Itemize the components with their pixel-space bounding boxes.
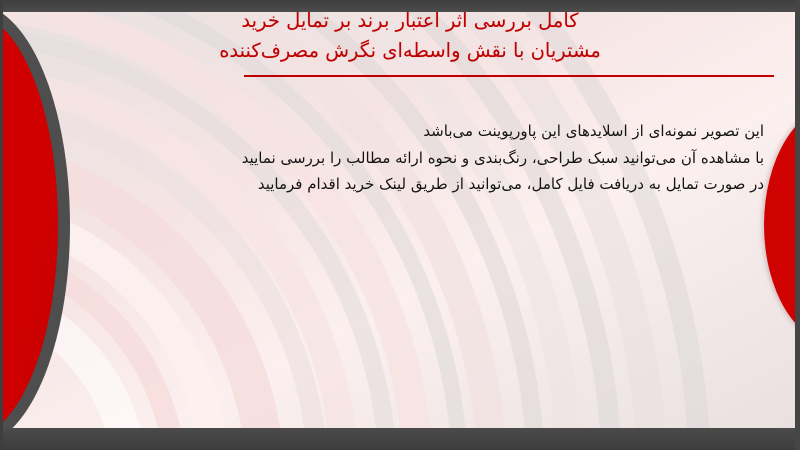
title-line-1: کامل بررسی اثر اعتبار برند بر تمایل خرید bbox=[60, 6, 760, 36]
right-frame-band bbox=[795, 0, 800, 450]
background-arc-pattern bbox=[0, 11, 800, 428]
title-underline bbox=[244, 75, 774, 77]
slide-title: کامل بررسی اثر اعتبار برند بر تمایل خرید… bbox=[60, 6, 760, 66]
slide-background-panel bbox=[0, 11, 800, 428]
body-line-1: این تصویر نمونه‌ای از اسلایدهای این پاور… bbox=[64, 118, 764, 145]
red-crescent-decoration bbox=[0, 4, 70, 446]
slide-body-text: این تصویر نمونه‌ای از اسلایدهای این پاور… bbox=[64, 118, 764, 198]
crescent-fill bbox=[0, 12, 58, 438]
presentation-slide: کامل بررسی اثر اعتبار برند بر تمایل خرید… bbox=[0, 0, 800, 450]
body-line-2: با مشاهده آن می‌توانید سبک طراحی، رنگ‌بن… bbox=[64, 145, 764, 172]
bottom-frame-band bbox=[0, 428, 800, 450]
body-line-3: در صورت تمایل به دریافت فایل کامل، می‌تو… bbox=[64, 171, 764, 198]
title-line-2: مشتریان با نقش واسطه‌ای نگرش مصرف‌کننده bbox=[219, 36, 601, 66]
left-frame-band bbox=[0, 0, 3, 450]
